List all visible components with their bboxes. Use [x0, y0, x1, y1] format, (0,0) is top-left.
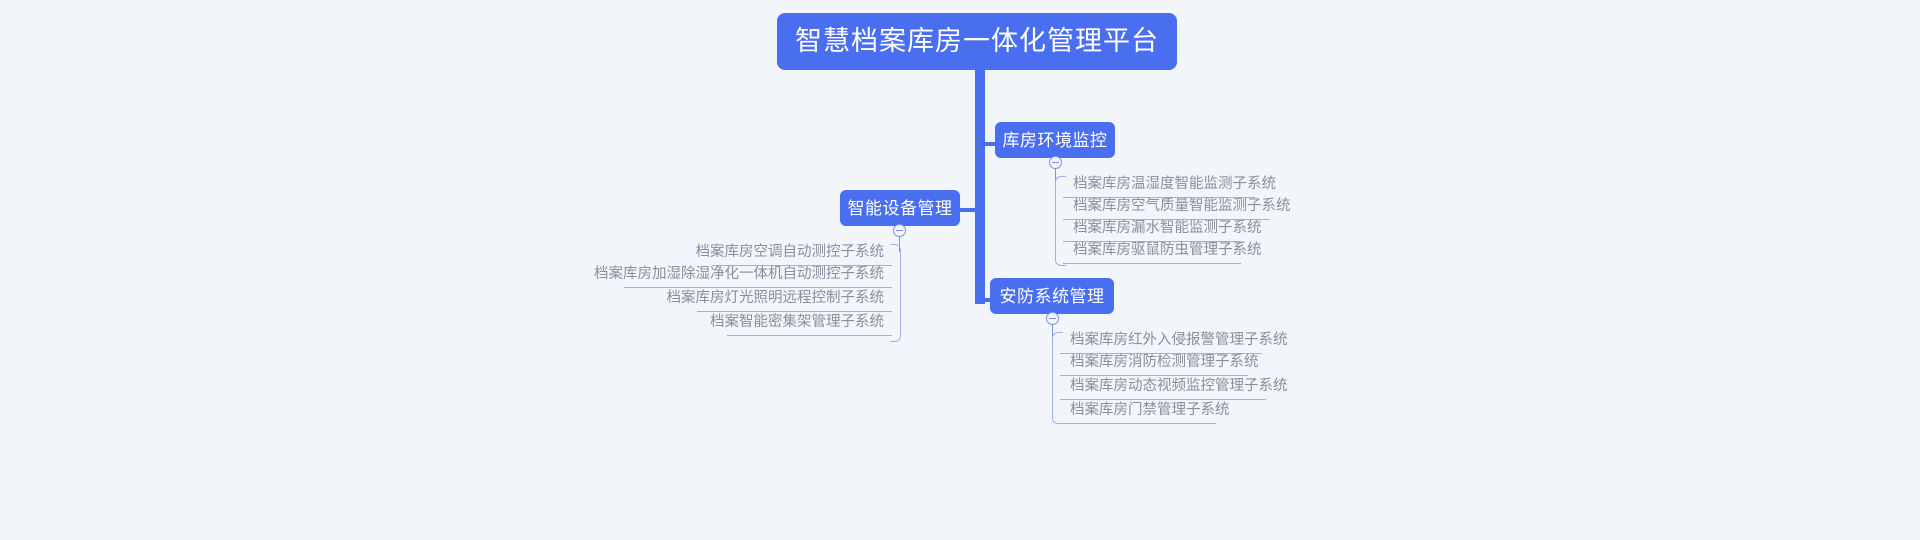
leaf-node[interactable]: 档案库房消防检测管理子系统 [1060, 354, 1248, 376]
leaf-node[interactable]: 档案库房空调自动测控子系统 [712, 244, 892, 266]
leaf-node[interactable]: 档案库房动态视频监控管理子系统 [1060, 378, 1266, 400]
collapse-toggle-env-monitoring[interactable] [1049, 156, 1062, 169]
leaf-label: 档案库房动态视频监控管理子系统 [1070, 379, 1288, 394]
branch-label-security-management: 安防系统管理 [1000, 288, 1105, 305]
branch-node-security-management[interactable]: 安防系统管理 [990, 278, 1114, 314]
leaf-label: 档案库房灯光照明远程控制子系统 [667, 291, 885, 306]
leaf-node[interactable]: 档案库房加湿除湿净化一体机自动测控子系统 [624, 266, 892, 288]
branch-node-env-monitoring[interactable]: 库房环境监控 [995, 122, 1115, 158]
leaf-node[interactable]: 档案库房门禁管理子系统 [1060, 402, 1216, 424]
leaf-node[interactable]: 档案库房红外入侵报警管理子系统 [1060, 332, 1262, 354]
leaf-node[interactable]: 档案库房温湿度智能监测子系统 [1063, 176, 1255, 198]
branch-label-env-monitoring: 库房环境监控 [1003, 132, 1108, 149]
leaf-label: 档案库房空调自动测控子系统 [696, 245, 885, 260]
root-node[interactable]: 智慧档案库房一体化管理平台 [777, 13, 1177, 70]
leaf-label: 档案库房温湿度智能监测子系统 [1073, 177, 1276, 192]
leaf-label: 档案库房红外入侵报警管理子系统 [1070, 333, 1288, 348]
leaf-node[interactable]: 档案库房空气质量智能监测子系统 [1063, 198, 1270, 220]
branch-node-device-management[interactable]: 智能设备管理 [840, 190, 960, 226]
leaf-label: 档案库房空气质量智能监测子系统 [1073, 199, 1291, 214]
leaf-node[interactable]: 档案库房漏水智能监测子系统 [1063, 220, 1241, 242]
leaf-node[interactable]: 档案库房驱鼠防虫管理子系统 [1063, 242, 1241, 264]
leaf-node[interactable]: 档案库房灯光照明远程控制子系统 [697, 290, 892, 312]
leaf-node[interactable]: 档案智能密集架管理子系统 [727, 314, 892, 336]
leaf-label: 档案库房驱鼠防虫管理子系统 [1073, 243, 1262, 258]
branch-label-device-management: 智能设备管理 [848, 200, 953, 217]
leaf-label: 档案库房加湿除湿净化一体机自动测控子系统 [594, 267, 884, 282]
collapse-toggle-device-management[interactable] [893, 224, 906, 237]
leaf-label: 档案智能密集架管理子系统 [710, 315, 884, 330]
root-node-label: 智慧档案库房一体化管理平台 [795, 28, 1159, 55]
collapse-toggle-security-management[interactable] [1046, 312, 1059, 325]
leaf-label: 档案库房漏水智能监测子系统 [1073, 221, 1262, 236]
leaf-label: 档案库房消防检测管理子系统 [1070, 355, 1259, 370]
leaf-label: 档案库房门禁管理子系统 [1070, 403, 1230, 418]
mindmap-canvas: 智慧档案库房一体化管理平台 库房环境监控 档案库房温湿度智能监测子系统 档案库房… [0, 0, 1920, 540]
